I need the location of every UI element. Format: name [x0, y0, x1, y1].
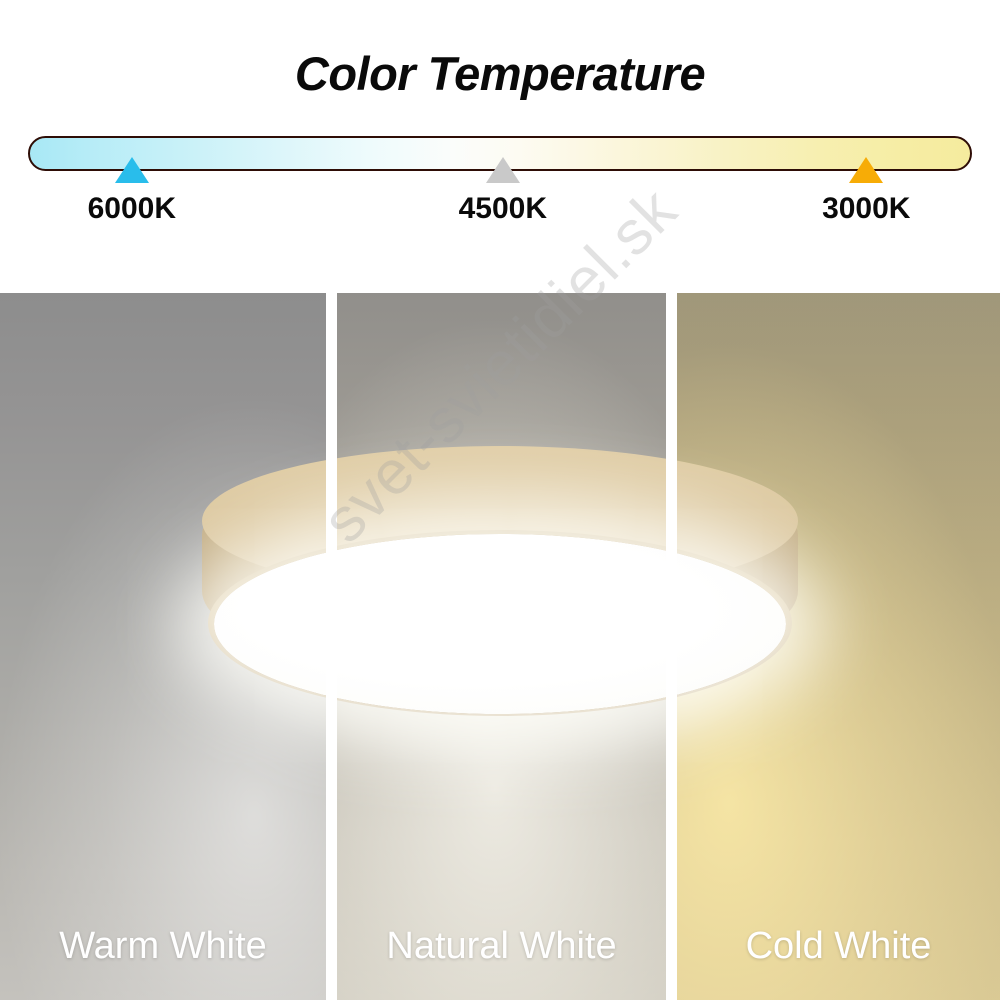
panel-warm-white[interactable]: Warm White — [0, 293, 326, 1000]
marker-triangle-4500k — [486, 157, 520, 183]
ceiling-lamp — [677, 448, 798, 738]
panel-caption: Natural White — [337, 925, 666, 968]
scale-label-3000k: 3000K — [822, 192, 910, 226]
scale-label-6000k: 6000K — [88, 192, 176, 226]
ceiling-lamp — [202, 448, 326, 738]
page-title: Color Temperature — [0, 46, 1000, 101]
ceiling-lamp — [337, 448, 666, 738]
lamp-preview-strip: Warm White Natural White — [0, 293, 1000, 1000]
panel-divider-right — [666, 293, 677, 1000]
panel-cold-white[interactable]: Cold White — [677, 293, 1000, 1000]
marker-triangle-6000k — [115, 157, 149, 183]
color-temperature-infographic: Color Temperature 6000K 4500K 3000K — [0, 0, 1000, 1000]
panel-natural-white[interactable]: Natural White — [337, 293, 666, 1000]
panel-caption: Warm White — [0, 925, 326, 968]
lamp-layer — [677, 293, 1000, 1000]
lamp-layer — [0, 293, 326, 1000]
panel-divider-left — [326, 293, 337, 1000]
marker-triangle-3000k — [849, 157, 883, 183]
lamp-diffuser — [337, 534, 666, 714]
panel-caption: Cold White — [677, 925, 1000, 968]
scale-label-4500k: 4500K — [459, 192, 547, 226]
lamp-layer — [337, 293, 666, 1000]
